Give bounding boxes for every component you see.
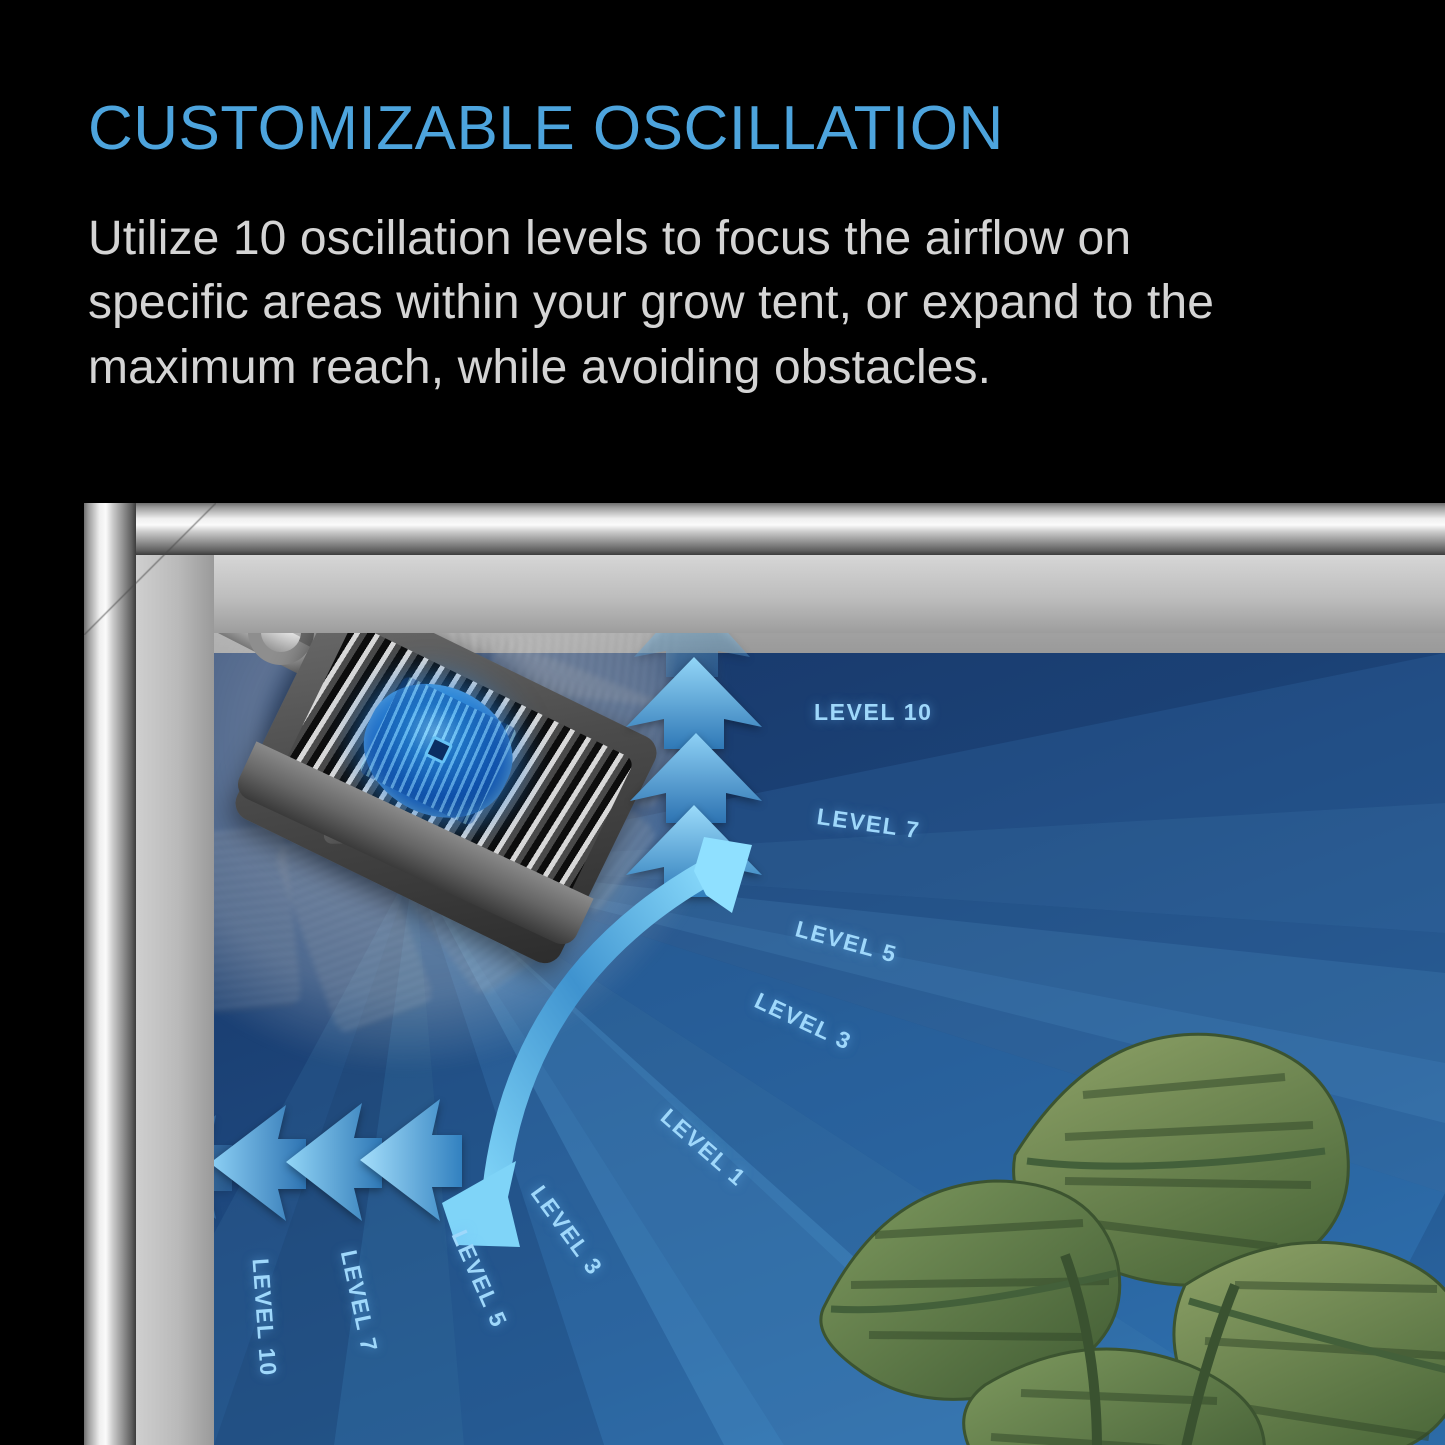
level-label-right-10: LEVEL 10 (814, 699, 932, 726)
frame-inner-top (136, 555, 1445, 633)
frame-inner-left (136, 555, 214, 1445)
frame-miter-corner (84, 503, 216, 635)
airflow-arrow-left (356, 1095, 464, 1225)
monstera-plant (765, 985, 1445, 1445)
copy-block: CUSTOMIZABLE OSCILLATION Utilize 10 osci… (88, 96, 1378, 400)
grow-tent-scene: LEVEL 10 LEVEL 7 LEVEL 5 LEVEL 3 LEVEL 1… (84, 503, 1445, 1445)
product-feature-card: CUSTOMIZABLE OSCILLATION Utilize 10 osci… (0, 0, 1445, 1445)
page-description: Utilize 10 oscillation levels to focus t… (88, 207, 1298, 400)
airflow-arrow-up (624, 803, 764, 899)
product-photo-panel: LEVEL 10 LEVEL 7 LEVEL 5 LEVEL 3 LEVEL 1… (84, 503, 1445, 1445)
page-title: CUSTOMIZABLE OSCILLATION (88, 96, 1378, 161)
